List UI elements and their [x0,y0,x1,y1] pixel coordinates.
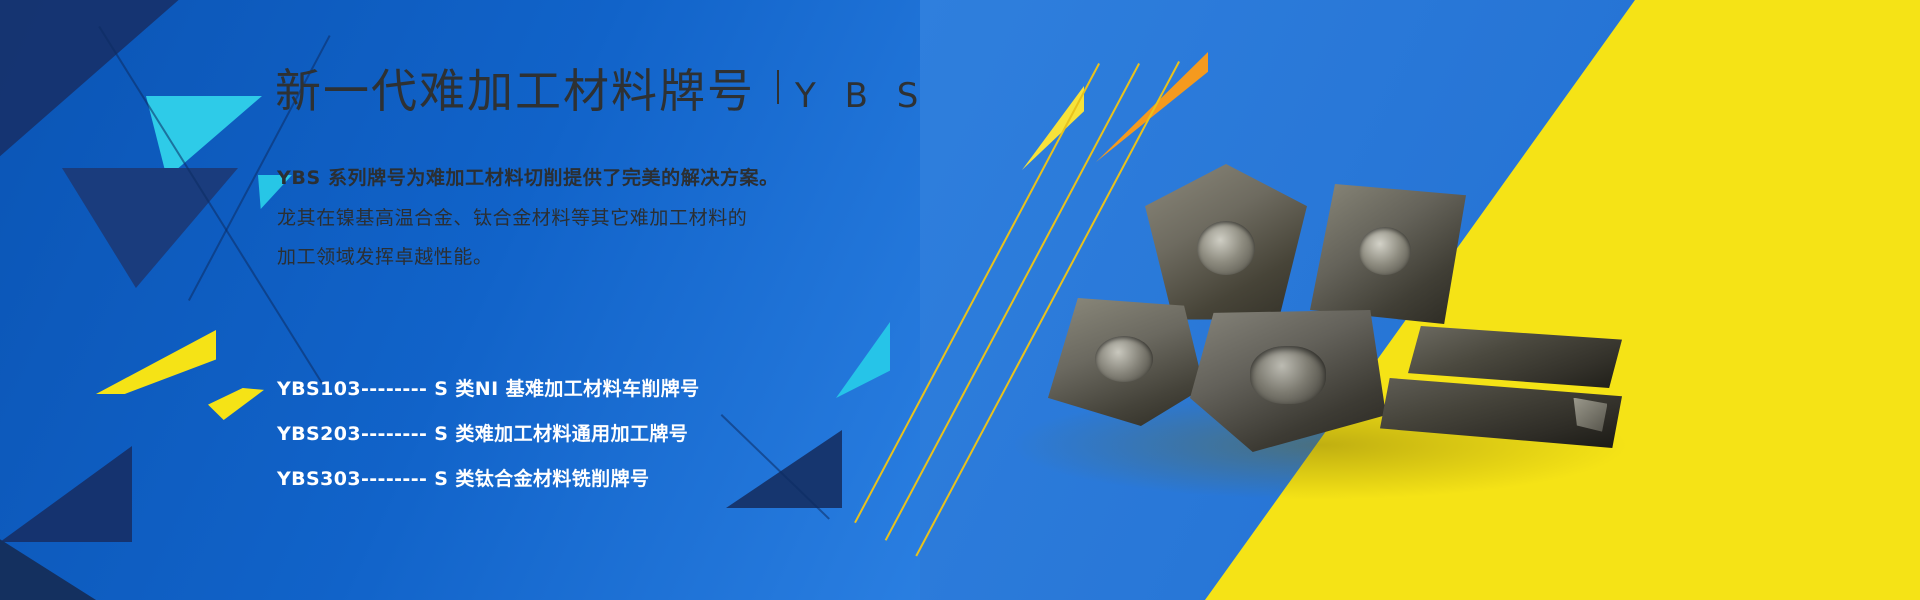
cyan-triangle-upper-decoration [146,96,262,178]
description-line-3: 加工领域发挥卓越性能。 [277,245,779,271]
navy-triangle-left-middle-decoration [62,168,238,288]
grade-list: YBS103-------- S 类NI 基难加工材料车削牌号 YBS203--… [277,378,700,512]
banner-text-content: 新一代难加工材料牌号 Y B S YBS 系列牌号为难加工材料切削提供了完美的解… [275,0,1055,600]
headline-series-code: Y B S [795,79,927,113]
grade-item-ybs103: YBS103-------- S 类NI 基难加工材料车削牌号 [277,378,700,402]
grade-item-ybs303: YBS303-------- S 类钛合金材料铣削牌号 [277,468,700,492]
square-insert-image [1310,184,1466,324]
grade-item-ybs203: YBS203-------- S 类难加工材料通用加工牌号 [277,423,700,447]
trigon-insert-image [1138,164,1314,326]
headline-divider [777,70,779,104]
yellow-arrow-left-decoration [96,330,216,394]
grooving-bar-insert-image-upper [1408,326,1622,388]
navy-triangle-bottom-left-decoration [0,392,132,542]
cutting-insert-product-group [1010,140,1630,480]
yellow-arrow-bullet-decoration [208,388,264,420]
banner-headline: 新一代难加工材料牌号 Y B S [275,68,927,114]
description-line-2: 龙其在镍基高温合金、钛合金材料等其它难加工材料的 [277,206,779,232]
product-banner: 新一代难加工材料牌号 Y B S YBS 系列牌号为难加工材料切削提供了完美的解… [0,0,1920,600]
headline-chinese: 新一代难加工材料牌号 [275,68,755,114]
description-line-1: YBS 系列牌号为难加工材料切削提供了完美的解决方案。 [277,166,779,192]
banner-description: YBS 系列牌号为难加工材料切削提供了完美的解决方案。 龙其在镍基高温合金、钛合… [277,166,779,285]
